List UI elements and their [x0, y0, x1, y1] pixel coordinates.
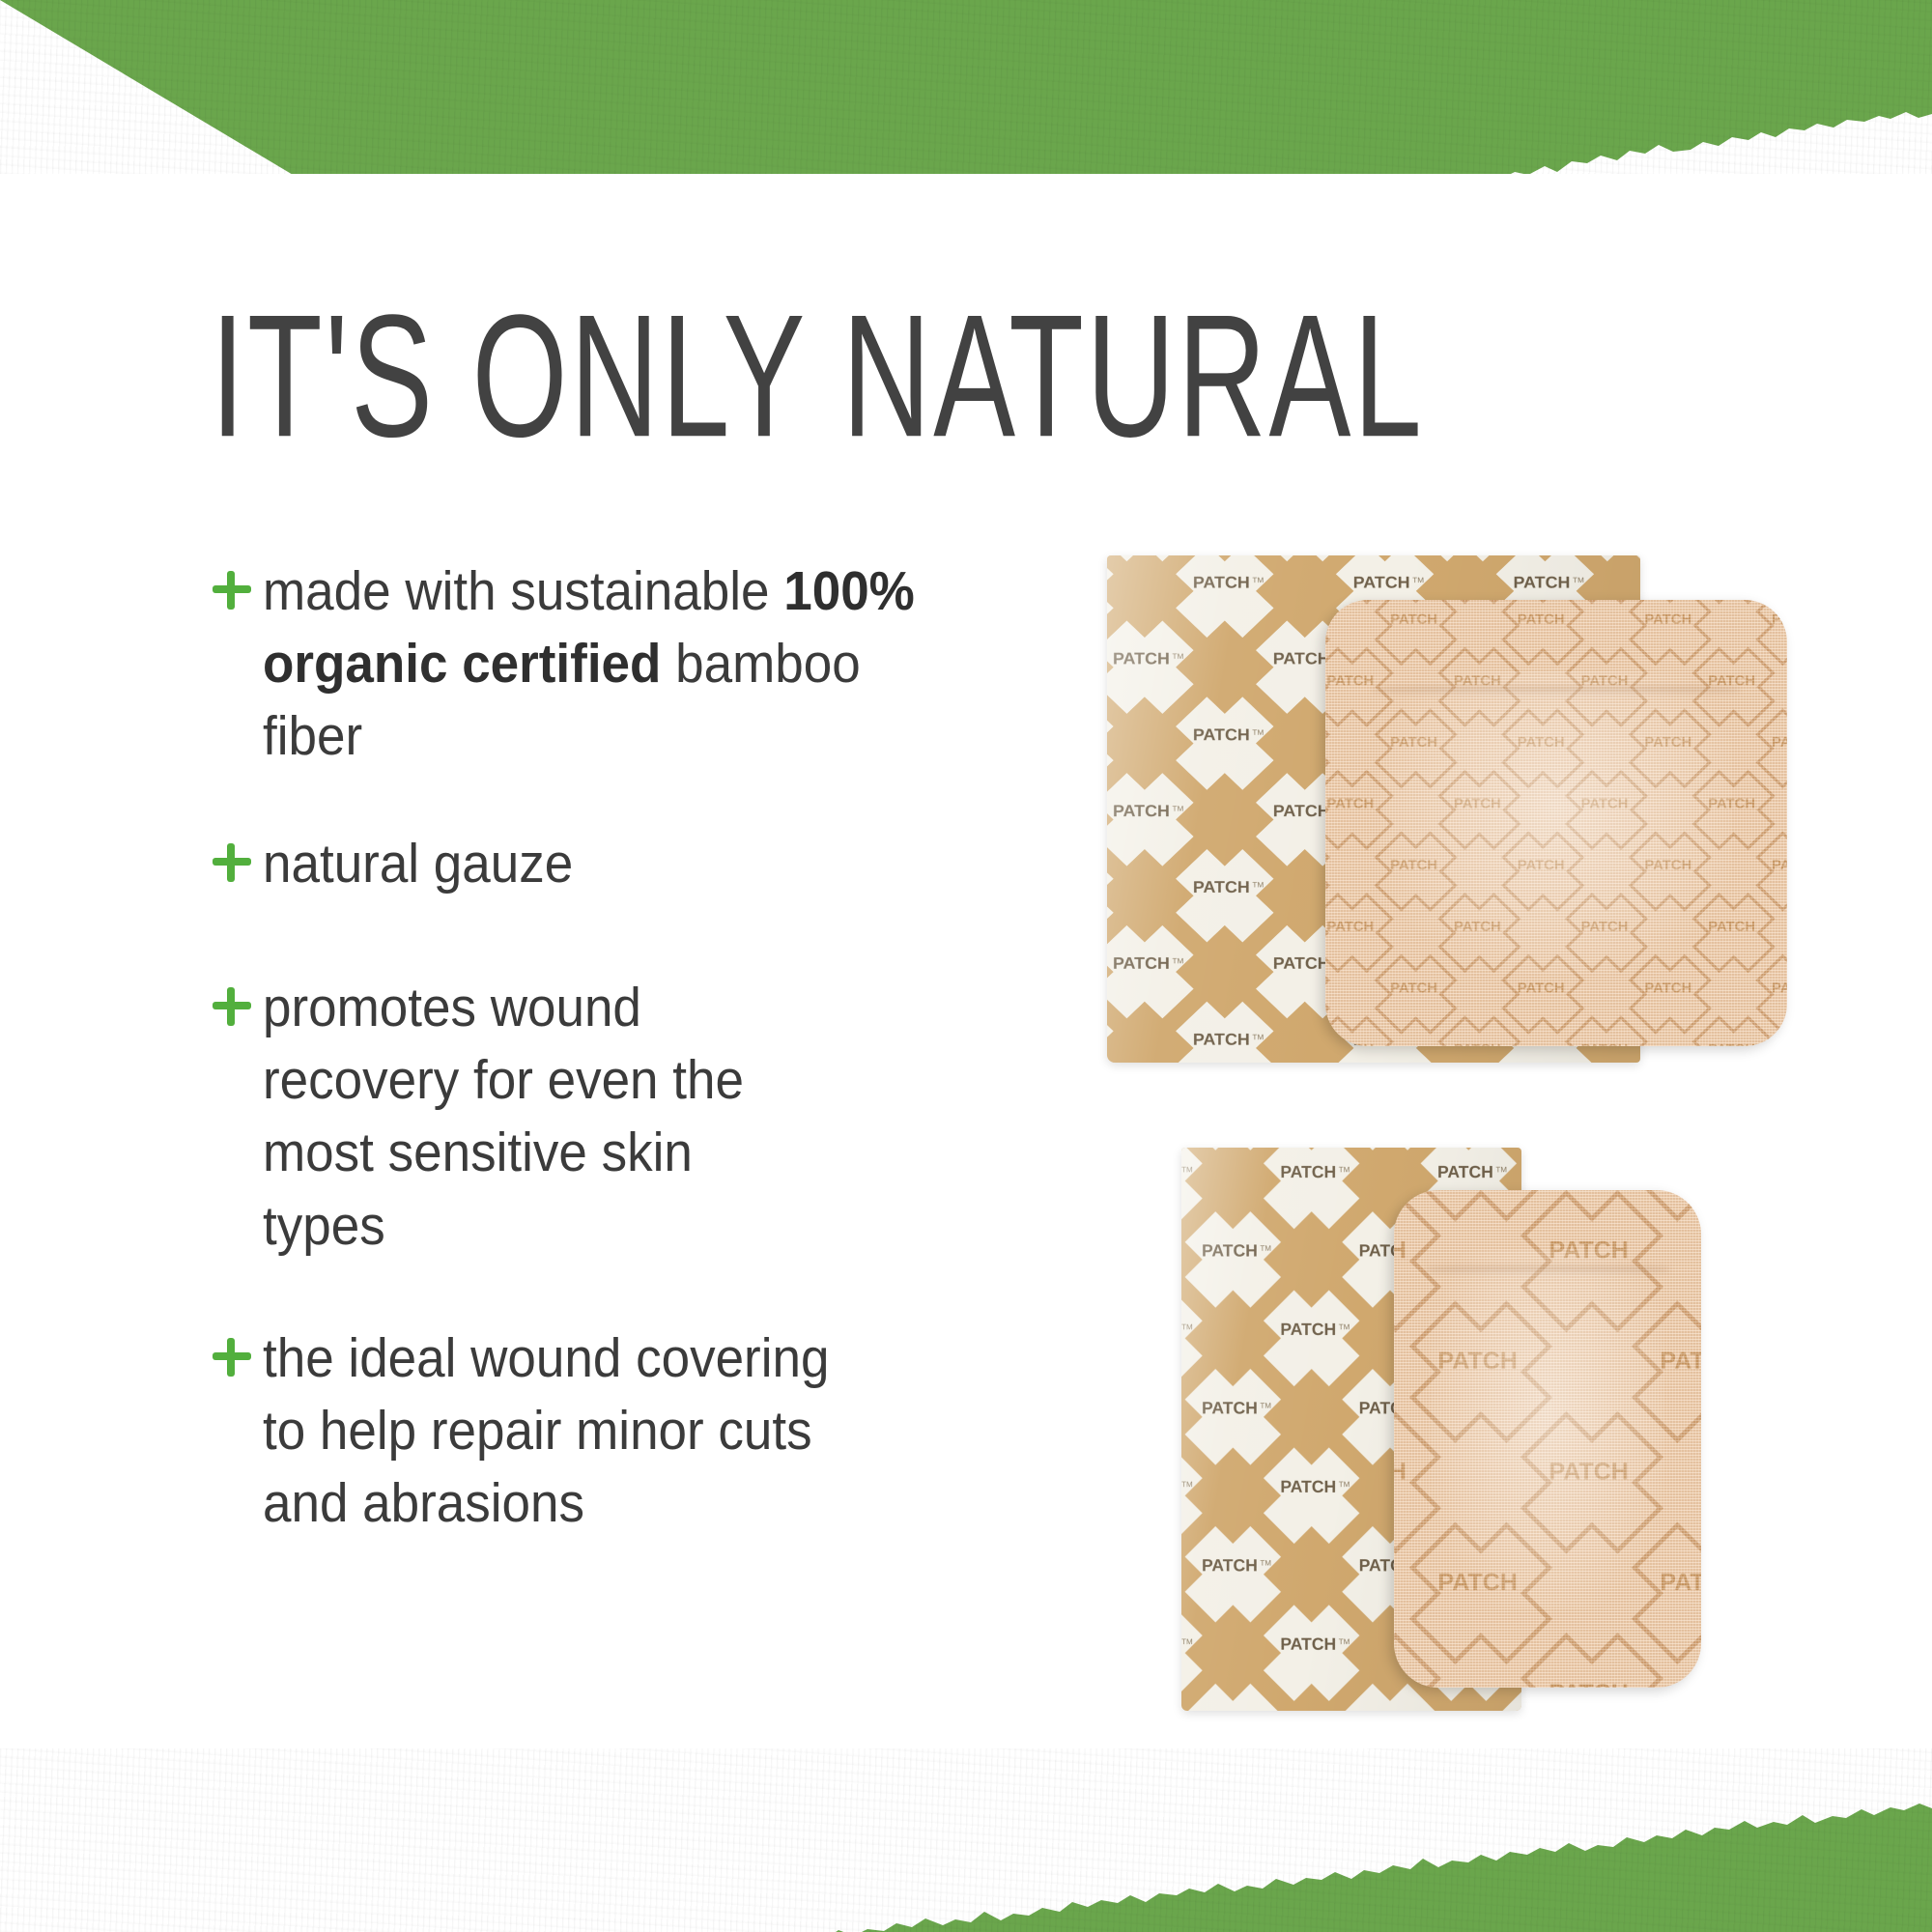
bandage-sheet-small: PATCH: [1394, 1190, 1701, 1688]
feature-text-2: promotes wound recovery for even the mos…: [263, 972, 829, 1263]
list-item: natural gauze: [211, 828, 1003, 900]
paper-grain-texture: [0, 0, 1932, 174]
bandage-sheet-large: PATCH: [1325, 600, 1787, 1046]
feature-text-1: natural gauze: [263, 828, 951, 900]
torn-paper-band-top: [0, 0, 1932, 174]
plus-icon: [211, 841, 263, 894]
list-item: promotes wound recovery for even the mos…: [211, 972, 1003, 1263]
fabric-crease: [1372, 685, 1741, 695]
list-item: the ideal wound covering to help repair …: [211, 1322, 1003, 1541]
list-item: made with sustainable 100% organic certi…: [211, 555, 1003, 774]
plus-icon: [211, 569, 263, 621]
poster-canvas: IT'S ONLY NATURAL made with sustainable …: [0, 0, 1932, 1932]
absorbent-pad: [1380, 671, 1731, 975]
absorbent-pad: [1431, 1250, 1664, 1608]
paper-grain-texture: [0, 1748, 1932, 1932]
plus-icon: [211, 1336, 263, 1388]
torn-paper-band-bottom: [0, 1748, 1932, 1932]
product-image-large: PATCH TM PATCH: [1101, 546, 1797, 1072]
page-title: IT'S ONLY NATURAL: [211, 290, 1424, 465]
plus-icon: [211, 985, 263, 1037]
feature-list: made with sustainable 100% organic certi…: [211, 555, 1003, 1595]
feature-text-3: the ideal wound covering to help repair …: [263, 1322, 873, 1541]
feature-text-0: made with sustainable 100% organic certi…: [263, 555, 951, 774]
product-image-small: PATCH TM PATCH: [1174, 1140, 1724, 1719]
feature-text-0-part-0: made with sustainable: [263, 560, 783, 622]
